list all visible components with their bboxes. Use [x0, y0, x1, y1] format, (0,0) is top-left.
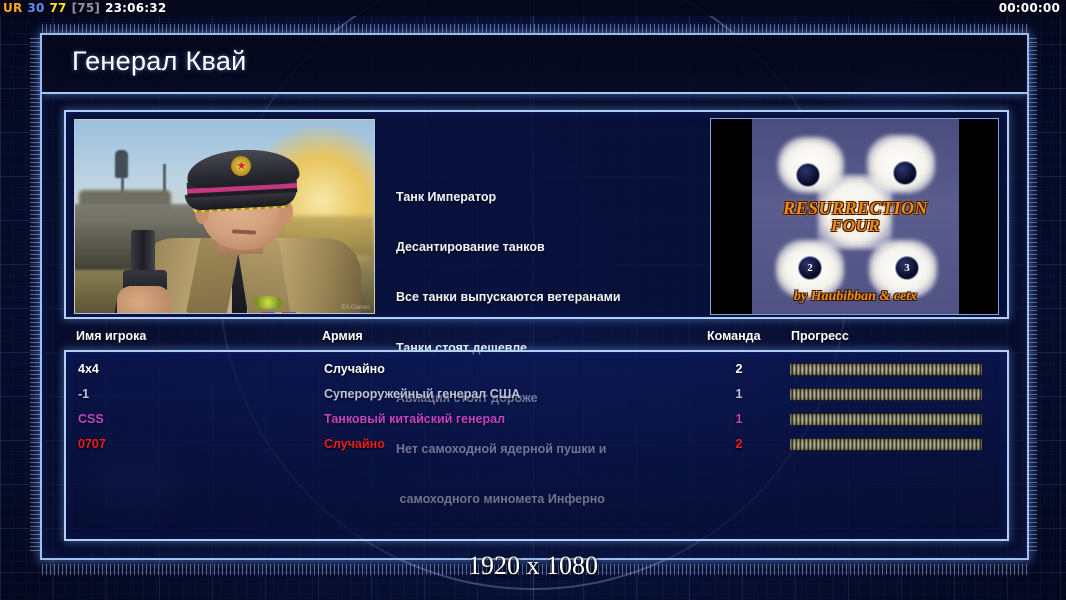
player-army: Случайно — [324, 362, 385, 376]
player-name: 4x4 — [78, 362, 99, 376]
general-info-panel: EA Games Танк Император Десантирование т… — [64, 110, 1009, 319]
map-preview[interactable]: 2 3 RESURRECTION FOUR by Haubibban & cet… — [710, 118, 999, 315]
table-row[interactable]: CSS Танковый китайский генерал 1 — [66, 408, 1007, 432]
general-hand — [117, 286, 171, 314]
player-army: Танковый китайский генерал — [324, 412, 505, 426]
status-ping: 30 — [27, 1, 44, 15]
ability-line-1: Танк Император — [396, 189, 716, 206]
map-preview-image: 2 3 RESURRECTION FOUR by Haubibban & cet… — [752, 119, 959, 314]
map-start-position-top-right — [893, 161, 917, 185]
status-bar: UR3077[75]23:06:32 00:00:00 — [0, 0, 1066, 16]
general-portrait: EA Games — [74, 119, 375, 314]
map-start-position-bottom-left: 2 — [798, 256, 822, 280]
player-name: -1 — [78, 387, 89, 401]
player-team: 2 — [728, 437, 750, 451]
table-row[interactable]: 4x4 Случайно 2 — [66, 358, 1007, 382]
resolution-overlay: 1920 x 1080 — [0, 551, 1066, 581]
page-title: Генерал Квай — [72, 46, 247, 77]
portrait-watermark: EA Games — [341, 305, 370, 311]
column-header-army: Армия — [322, 329, 363, 343]
column-header-player-name: Имя игрока — [76, 329, 146, 343]
player-army: Супероружейный генерал США — [324, 387, 520, 401]
portrait-background-figure — [115, 150, 128, 178]
player-name: CSS — [78, 412, 104, 426]
map-credit: by Haubibban & cetx — [752, 289, 959, 305]
player-progress-bar — [790, 438, 982, 451]
map-title-line-2: FOUR — [752, 217, 959, 235]
game-lobby-screen: UR3077[75]23:06:32 00:00:00 Генерал Квай — [0, 0, 1066, 600]
player-list-headers: Имя игрока Армия Команда Прогресс — [64, 329, 1009, 349]
status-bar-left: UR3077[75]23:06:32 — [3, 0, 171, 16]
status-ur-label: UR — [3, 1, 22, 15]
player-team: 1 — [728, 412, 750, 426]
status-game-timer: 00:00:00 — [999, 0, 1060, 16]
map-title: RESURRECTION FOUR — [752, 199, 959, 235]
general-medal-ribbons — [261, 312, 301, 314]
title-strip: Генерал Квай — [42, 35, 1027, 94]
ability-line-2: Десантирование танков — [396, 239, 716, 256]
main-panel: Генерал Квай — [40, 33, 1029, 560]
player-list: 4x4 Случайно 2 -1 Супероружейный генерал… — [64, 350, 1009, 541]
player-progress-bar — [790, 388, 982, 401]
status-clock: 23:06:32 — [105, 1, 166, 15]
table-row[interactable]: -1 Супероружейный генерал США 1 — [66, 383, 1007, 407]
status-fps: 77 — [50, 1, 67, 15]
general-chest-emblem — [253, 296, 283, 309]
status-fps-average: [75] — [72, 1, 100, 15]
map-start-position-top-left — [796, 163, 820, 187]
map-title-line-1: RESURRECTION — [783, 198, 928, 218]
map-start-position-bottom-right: 3 — [895, 256, 919, 280]
column-header-progress: Прогресс — [791, 329, 849, 343]
table-row[interactable]: 0707 Случайно 2 — [66, 433, 1007, 457]
player-progress-bar — [790, 363, 982, 376]
player-progress-bar — [790, 413, 982, 426]
player-name: 0707 — [78, 437, 106, 451]
column-header-team: Команда — [707, 329, 761, 343]
player-army: Случайно — [324, 437, 385, 451]
player-team: 1 — [728, 387, 750, 401]
player-team: 2 — [728, 362, 750, 376]
ability-line-3: Все танки выпускаются ветеранами — [396, 289, 716, 306]
